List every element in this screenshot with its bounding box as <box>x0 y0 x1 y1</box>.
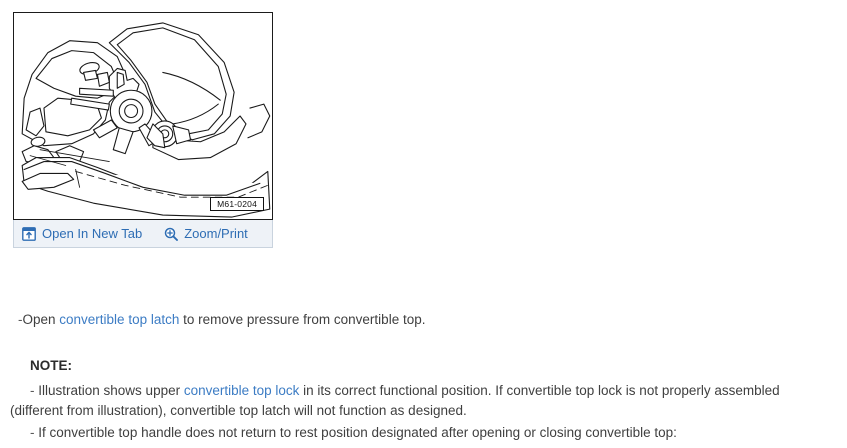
instruction-content: -Open convertible top latch to remove pr… <box>0 300 847 443</box>
part-number-plate: M61-0204 <box>210 197 264 211</box>
step-text-after: to remove pressure from convertible top. <box>179 312 425 327</box>
note-bullet: - <box>30 383 35 398</box>
step-text-before: Open <box>23 312 60 327</box>
figure-panel: M61-0204 Open In New Tab Zoom/Prin <box>13 12 275 248</box>
note-heading: NOTE: <box>0 358 847 373</box>
technical-illustration <box>14 13 272 219</box>
figure-toolbar: Open In New Tab Zoom/Print <box>13 220 273 248</box>
note-item: - If convertible top handle does not ret… <box>0 423 847 443</box>
zoom-print-label: Zoom/Print <box>184 227 248 240</box>
link-convertible-top-latch[interactable]: convertible top latch <box>59 312 179 327</box>
open-in-new-tab-icon <box>22 227 36 241</box>
note-item: - Illustration shows upper convertible t… <box>0 381 847 422</box>
link-convertible-top-lock[interactable]: convertible top lock <box>184 383 300 398</box>
zoom-print-button[interactable]: Zoom/Print <box>164 227 248 241</box>
note-bullet: - <box>30 425 35 440</box>
figure-image-frame[interactable]: M61-0204 <box>13 12 273 220</box>
magnifier-plus-icon <box>164 227 178 241</box>
step-item: -Open convertible top latch to remove pr… <box>0 310 847 330</box>
note-text-before: Illustration shows upper <box>38 383 184 398</box>
open-in-new-tab-label: Open In New Tab <box>42 227 142 240</box>
open-in-new-tab-button[interactable]: Open In New Tab <box>22 227 142 241</box>
note-text-before: If convertible top handle does not retur… <box>38 425 677 440</box>
